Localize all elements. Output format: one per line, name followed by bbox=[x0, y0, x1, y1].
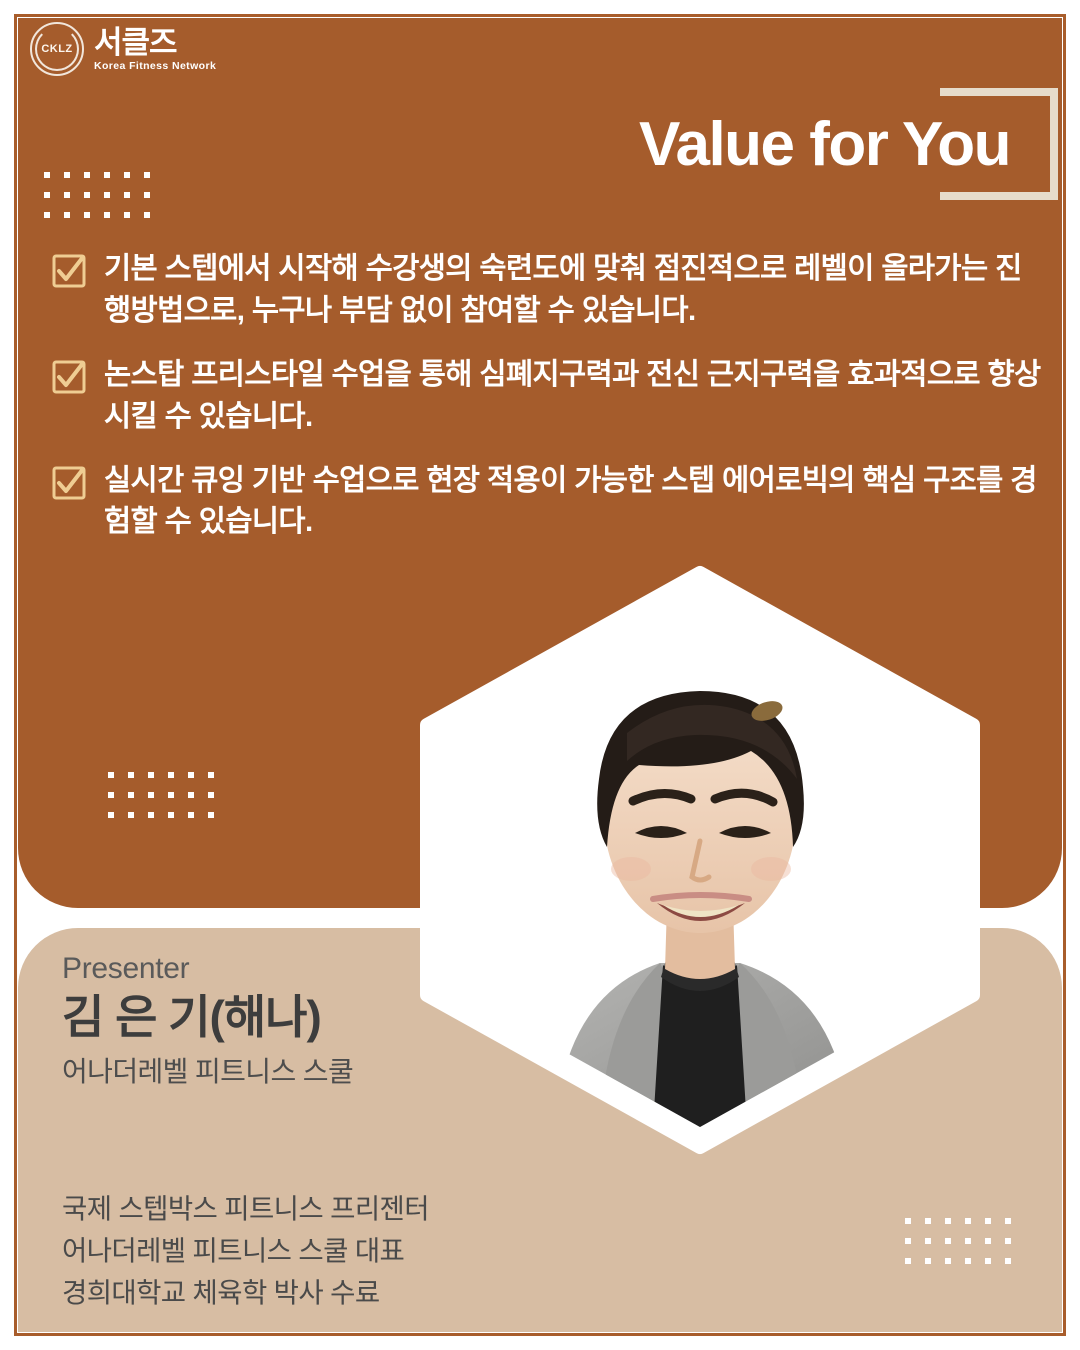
logo-monogram: CKLZ bbox=[30, 22, 84, 76]
brand-logo-text: 서클즈 Korea Fitness Network bbox=[94, 27, 216, 72]
brand-logo: CKLZ 서클즈 Korea Fitness Network bbox=[30, 22, 216, 76]
poster-canvas: CKLZ 서클즈 Korea Fitness Network Value for… bbox=[0, 0, 1080, 1350]
presenter-block: Presenter 김 은 기(해나) 어나더레벨 피트니스 스쿨 bbox=[62, 952, 353, 1090]
checkbox-check-icon bbox=[52, 254, 86, 288]
credentials-list: 국제 스텝박스 피트니스 프리젠터 어나더레벨 피트니스 스쿨 대표 경희대학교… bbox=[62, 1188, 429, 1313]
credential-item: 경희대학교 체육학 박사 수료 bbox=[62, 1272, 429, 1314]
circles-logo-icon: CKLZ bbox=[30, 22, 84, 76]
brand-tagline-en: Korea Fitness Network bbox=[94, 61, 216, 72]
credential-item: 어나더레벨 피트니스 스쿨 대표 bbox=[62, 1230, 429, 1272]
benefit-item: 기본 스텝에서 시작해 수강생의 숙련도에 맞춰 점진적으로 레벨이 올라가는 … bbox=[52, 248, 1042, 332]
checkbox-check-icon bbox=[52, 360, 86, 394]
benefit-item: 논스탑 프리스타일 수업을 통해 심폐지구력과 전신 근지구력을 효과적으로 향… bbox=[52, 354, 1042, 438]
title-block: Value for You bbox=[639, 100, 1010, 176]
presenter-portrait bbox=[435, 585, 965, 1135]
presenter-organization: 어나더레벨 피트니스 스쿨 bbox=[62, 1050, 353, 1090]
benefit-text: 기본 스텝에서 시작해 수강생의 숙련도에 맞춰 점진적으로 레벨이 올라가는 … bbox=[104, 248, 1042, 332]
benefit-item: 실시간 큐잉 기반 수업으로 현장 적용이 가능한 스텝 에어로빅의 핵심 구조… bbox=[52, 460, 1042, 544]
credential-item: 국제 스텝박스 피트니스 프리젠터 bbox=[62, 1188, 429, 1230]
brand-name-ko: 서클즈 bbox=[94, 27, 216, 58]
title-bracket-decoration bbox=[940, 88, 1058, 200]
benefit-text: 실시간 큐잉 기반 수업으로 현장 적용이 가능한 스텝 에어로빅의 핵심 구조… bbox=[104, 460, 1042, 544]
dot-grid-mid-left bbox=[108, 772, 214, 818]
checkbox-check-icon bbox=[52, 466, 86, 500]
presenter-name: 김 은 기(해나) bbox=[62, 990, 353, 1044]
dot-grid-bottom-right bbox=[905, 1218, 1011, 1264]
presenter-label: Presenter bbox=[62, 952, 353, 986]
benefits-list: 기본 스텝에서 시작해 수강생의 숙련도에 맞춰 점진적으로 레벨이 올라가는 … bbox=[52, 248, 1042, 565]
presenter-photo-frame bbox=[395, 565, 1005, 1155]
benefit-text: 논스탑 프리스타일 수업을 통해 심폐지구력과 전신 근지구력을 효과적으로 향… bbox=[104, 354, 1042, 438]
dot-grid-top-left bbox=[44, 172, 150, 218]
